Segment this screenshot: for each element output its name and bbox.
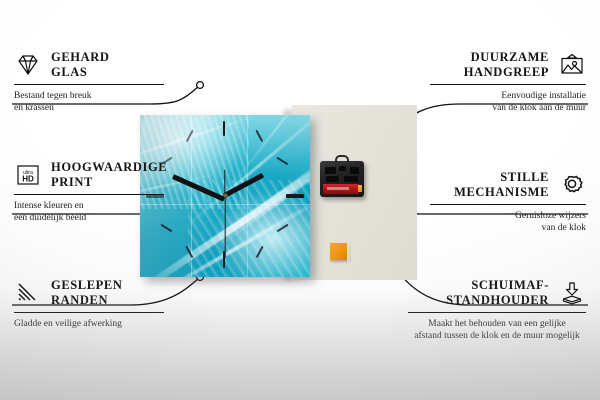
foam-spacer — [330, 243, 347, 260]
feature-divider — [14, 84, 164, 85]
clock-tick-3 — [286, 194, 304, 198]
feature-description: Geruisloze wijzers van de klok — [430, 210, 586, 235]
feature-description: Intense kleuren en een duidelijk beeld — [14, 200, 164, 225]
feature-divider — [14, 312, 164, 313]
feature-title: STILLE MECHANISME — [454, 170, 549, 200]
gear-icon — [558, 173, 586, 197]
feature-gehard-glas: GEHARD GLAS Bestand tegen breuk en krass… — [14, 50, 164, 115]
feature-title: DUURZAME HANDGREEP — [464, 50, 549, 80]
wall-clock-face — [140, 115, 310, 277]
mechanism-battery — [323, 184, 359, 194]
feature-description: Maakt het behouden van een gelijke afsta… — [408, 318, 586, 343]
bevelled-edges-icon — [14, 281, 42, 305]
clock-tick-1 — [256, 130, 263, 142]
feature-divider — [14, 194, 164, 195]
clock-second-hand — [224, 196, 225, 258]
feature-divider — [408, 312, 586, 313]
feature-hoogwaardige-print: ultra HD HOOGWAARDIGE PRINT Intense kleu… — [14, 160, 164, 225]
feature-title: HOOGWAARDIGE PRINT — [51, 160, 167, 190]
product-photo — [132, 103, 417, 288]
mechanism-hook-icon — [335, 155, 349, 164]
feature-divider — [430, 84, 586, 85]
feature-description: Eenvoudige installatie van de klok aan d… — [430, 90, 586, 115]
clock-mechanism — [320, 161, 364, 197]
connector-dot-gehard-glas — [197, 82, 204, 89]
ultra-hd-icon: ultra HD — [14, 163, 42, 187]
feature-title: GEHARD GLAS — [51, 50, 109, 80]
feature-schuimafstandhouder: SCHUIMAF- STANDHOUDER Maakt het behouden… — [408, 278, 586, 343]
clock-tick-12 — [223, 121, 225, 136]
feature-title: GESLEPEN RANDEN — [51, 278, 123, 308]
clock-tick-2 — [277, 157, 289, 165]
clock-center-pivot — [223, 193, 228, 198]
feature-stille-mechanisme: STILLE MECHANISME Geruisloze wijzers van… — [430, 170, 586, 235]
feature-divider — [430, 204, 586, 205]
diamond-icon — [14, 53, 42, 77]
feature-duurzame-handgreep: DUURZAME HANDGREEP Eenvoudige installati… — [430, 50, 586, 115]
svg-text:HD: HD — [22, 174, 34, 183]
spacer-arrow-icon — [558, 281, 586, 305]
feature-geslepen-randen: GESLEPEN RANDEN Gladde en veilige afwerk… — [14, 278, 164, 330]
feature-description: Gladde en veilige afwerking — [14, 318, 164, 331]
feature-title: SCHUIMAF- STANDHOUDER — [446, 278, 549, 308]
infographic-canvas: GEHARD GLAS Bestand tegen breuk en krass… — [0, 0, 600, 400]
picture-frame-icon — [558, 53, 586, 77]
feature-description: Bestand tegen breuk en krassen — [14, 90, 164, 115]
